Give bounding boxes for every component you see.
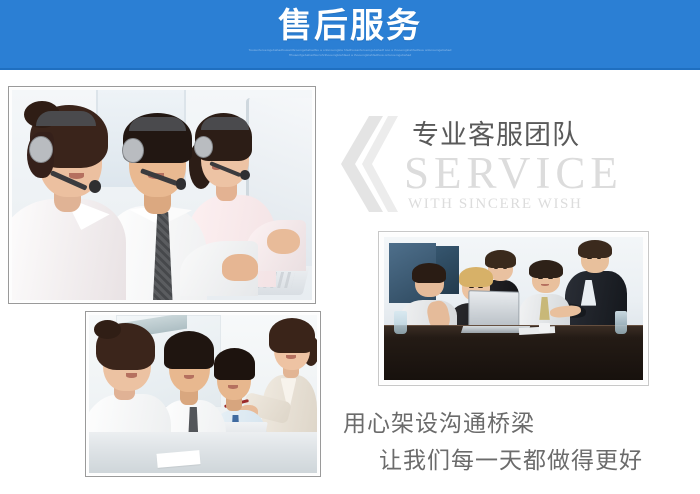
photo-callcenter [8, 86, 316, 304]
photo-meeting-en [378, 231, 649, 386]
after-sales-service-page: 售后服务 Tousunferoemgebahadfsusarilbroemgeb… [0, 0, 700, 494]
service-heading-en: SERVICE [404, 150, 623, 196]
slogan-line-1: 用心架设沟通桥梁 [343, 404, 535, 438]
banner-divider [0, 68, 700, 70]
service-heading-cn: 专业客服团队 [412, 113, 580, 152]
double-chevron-left-icon [336, 116, 398, 212]
photo-meeting-cn-image [89, 315, 317, 473]
page-banner: 售后服务 Tousunferoemgebahadfsusarilbroemgeb… [0, 0, 700, 70]
slogan-line-2: 让我们每一天都做得更好 [379, 441, 643, 475]
banner-subtitle: Tousunferoemgebahadfsusarilbroemgebahadf… [0, 48, 700, 64]
photo-callcenter-image [12, 90, 312, 300]
photo-meeting-cn [85, 311, 321, 477]
photo-meeting-en-image [384, 237, 643, 380]
page-title: 售后服务 [0, 6, 700, 46]
service-subheading-en: WITH SINCERE WISH [408, 196, 582, 213]
